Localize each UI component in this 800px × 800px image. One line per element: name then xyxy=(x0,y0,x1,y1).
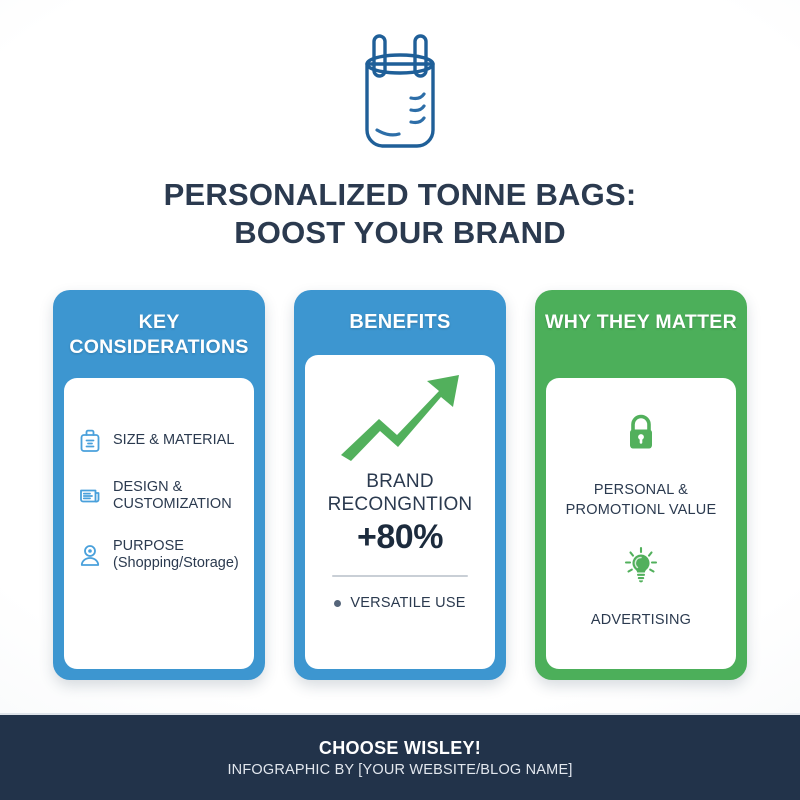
card-why-they-matter-body: PERSONAL & PROMOTIONL VALUE xyxy=(546,378,736,669)
card-key-considerations-body: SIZE & MATERIAL DESIGN & xyxy=(64,378,254,669)
card-why-they-matter[interactable]: WHY THEY MATTER PERSONAL & xyxy=(535,290,747,680)
bullet-icon xyxy=(334,600,341,607)
card-title-line-1: BENEFITS xyxy=(349,311,450,333)
card-benefits-title: BENEFITS xyxy=(304,310,496,336)
list-item[interactable]: SIZE & MATERIAL xyxy=(78,428,244,454)
list-item-label: VERSATILE USE xyxy=(350,595,465,611)
lock-icon xyxy=(624,412,658,457)
page-title-line-2: BOOST YOUR BRAND xyxy=(0,214,800,252)
card-key-considerations-title: KEY CONSIDERATIONS xyxy=(63,310,255,360)
card-why-they-matter-title: WHY THEY MATTER xyxy=(545,310,737,335)
footer-title: CHOOSE WISLEY! xyxy=(319,738,481,759)
page-title: PERSONALIZED TONNE BAGS: BOOST YOUR BRAN… xyxy=(0,176,800,252)
benefit-label-line-1: BRAND xyxy=(366,471,434,492)
list-item-label-sub: CUSTOMIZATION xyxy=(113,496,232,513)
person-icon xyxy=(78,542,102,568)
divider xyxy=(332,575,468,577)
why-content: PERSONAL & PROMOTIONL VALUE xyxy=(546,378,736,669)
card-benefits[interactable]: BENEFITS BRAND RECONGNTION +80% xyxy=(294,290,506,680)
advertising-text: ADVERTISING xyxy=(591,611,691,631)
list-item-label-sub: (Shopping/Storage) xyxy=(113,555,239,572)
list-item[interactable]: PURPOSE (Shopping/Storage) xyxy=(78,538,244,572)
card-benefits-body: BRAND RECONGNTION +80% VERSATILE USE xyxy=(305,355,495,669)
tonne-bag-icon xyxy=(345,26,455,156)
footer-subtitle: INFOGRAPHIC BY [YOUR WEBSITE/BLOG NAME] xyxy=(227,762,572,778)
infographic-page: PERSONALIZED TONNE BAGS: BOOST YOUR BRAN… xyxy=(0,0,800,800)
benefit-label-line-2: RECONGNTION xyxy=(328,494,473,515)
list-item-label-main: SIZE & MATERIAL xyxy=(113,432,234,448)
bag-icon xyxy=(78,428,102,454)
value-text-line-1: PERSONAL & xyxy=(594,482,688,498)
benefits-content: BRAND RECONGNTION +80% VERSATILE USE xyxy=(305,355,495,669)
list-item-label: SIZE & MATERIAL xyxy=(113,432,234,449)
feature-list: SIZE & MATERIAL DESIGN & xyxy=(64,428,254,572)
benefit-stat: +80% xyxy=(357,518,443,557)
card-title-line-1: WHY THEY xyxy=(545,311,650,333)
benefit-label: BRAND RECONGNTION xyxy=(328,470,473,516)
list-item-label-main: PURPOSE xyxy=(113,538,184,554)
value-text-line-2: PROMOTIONL VALUE xyxy=(566,502,717,518)
list-item-label: DESIGN & CUSTOMIZATION xyxy=(113,479,232,513)
list-item[interactable]: DESIGN & CUSTOMIZATION xyxy=(78,479,244,513)
growth-arrow-icon xyxy=(335,369,465,466)
lightbulb-icon xyxy=(623,546,659,589)
list-item-label: PURPOSE (Shopping/Storage) xyxy=(113,538,239,572)
list-item[interactable]: VERSATILE USE xyxy=(334,595,465,611)
card-title-line-1: KEY xyxy=(139,311,180,333)
card-title-line-2: CONSIDERATIONS xyxy=(69,336,248,358)
list-item-label-main: DESIGN & xyxy=(113,479,182,495)
document-icon xyxy=(78,483,102,509)
cards-row: KEY CONSIDERATIONS SIZE xyxy=(53,290,747,680)
tonne-bag-icon-container xyxy=(0,26,800,156)
footer: CHOOSE WISLEY! INFOGRAPHIC BY [YOUR WEBS… xyxy=(0,713,800,800)
value-text: PERSONAL & PROMOTIONL VALUE xyxy=(566,481,717,520)
page-title-line-1: PERSONALIZED TONNE BAGS: xyxy=(0,176,800,214)
card-title-line-2: MATTER xyxy=(655,311,737,333)
card-key-considerations[interactable]: KEY CONSIDERATIONS SIZE xyxy=(53,290,265,680)
